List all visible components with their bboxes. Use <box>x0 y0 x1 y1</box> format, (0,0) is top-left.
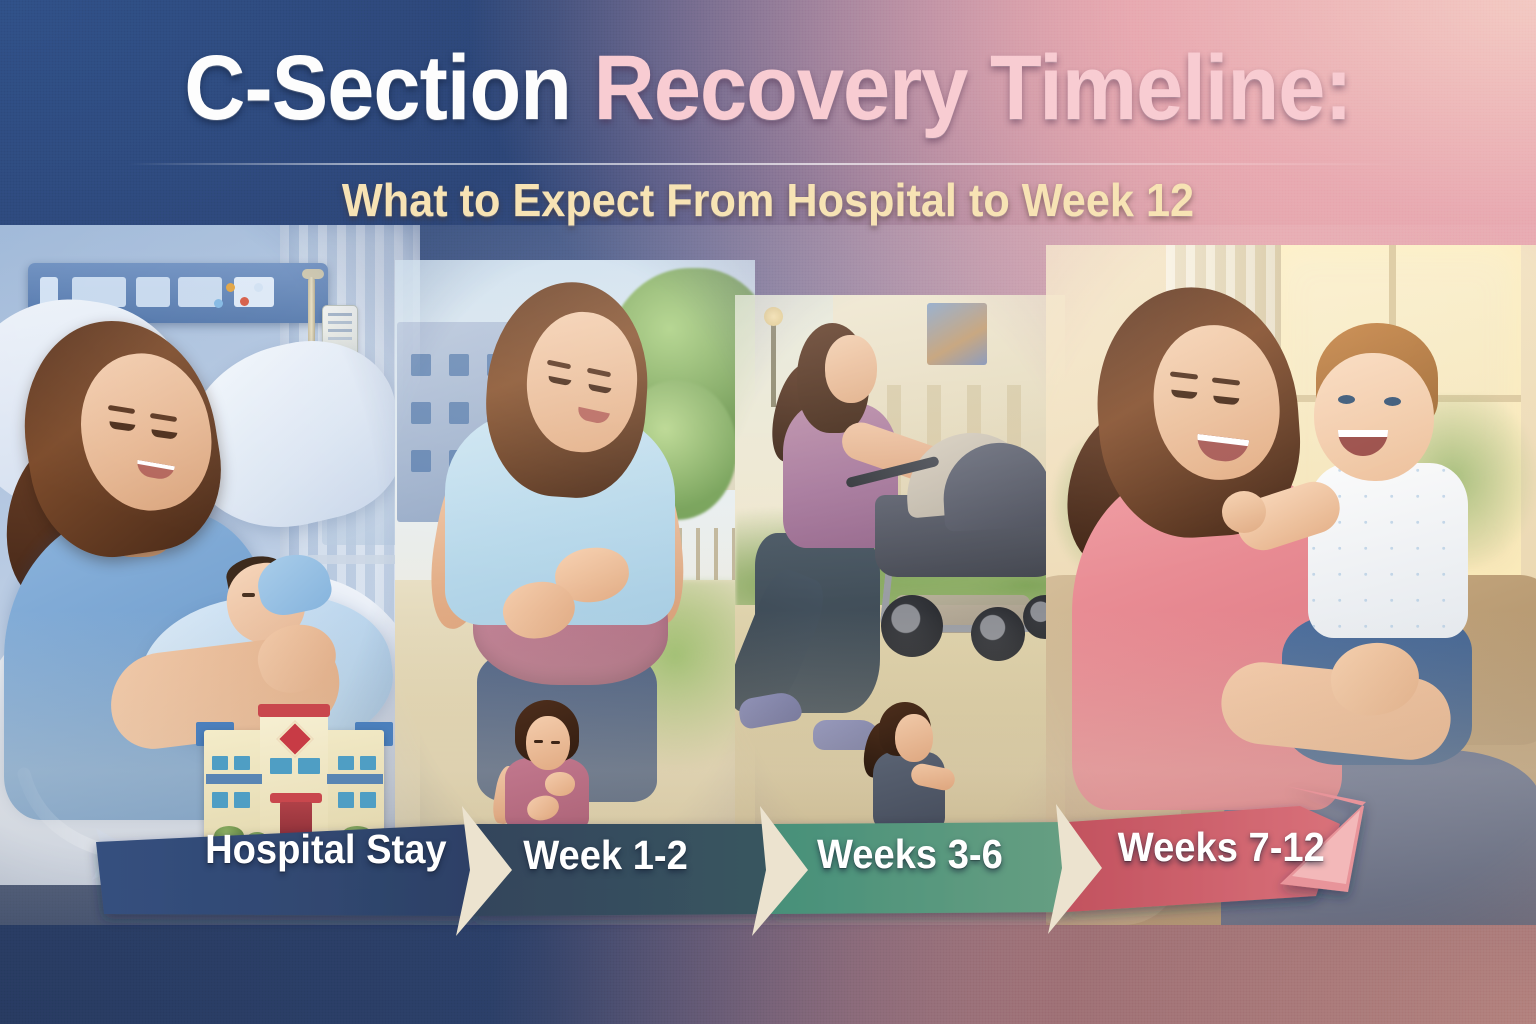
title-primary: C-Section <box>184 37 593 139</box>
page-title: C-Section Recovery Timeline: <box>0 42 1536 134</box>
toddler-fist <box>1222 491 1266 533</box>
page-subtitle: What to Expect From Hospital to Week 12 <box>0 176 1536 224</box>
timeline-label-week-1-2[interactable]: Week 1-2 <box>523 832 688 879</box>
stroller-wheel <box>881 595 943 657</box>
toddler-face <box>1314 353 1434 481</box>
timeline-label-weeks-7-12[interactable]: Weeks 7-12 <box>1118 824 1325 871</box>
building-mural <box>927 303 987 365</box>
recovery-timeline: Hospital Stay Week 1-2 Weeks 3-6 Weeks 7… <box>0 784 1536 964</box>
timeline-label-weeks-3-6[interactable]: Weeks 3-6 <box>817 831 1003 878</box>
infographic-canvas: C-Section Recovery Timeline: What to Exp… <box>0 0 1536 1024</box>
title-accent: Recovery Timeline: <box>594 37 1352 139</box>
timeline-labels: Hospital Stay Week 1-2 Weeks 3-6 Weeks 7… <box>0 784 1536 964</box>
subtitle-text: What to Expect From Hospital to Week 12 <box>46 176 1490 224</box>
woman-face <box>825 335 877 403</box>
timeline-label-hospital-stay[interactable]: Hospital Stay <box>205 826 447 873</box>
stroller-wheel <box>971 607 1025 661</box>
street-lamp <box>771 317 776 407</box>
title-divider-rule <box>128 163 1408 165</box>
